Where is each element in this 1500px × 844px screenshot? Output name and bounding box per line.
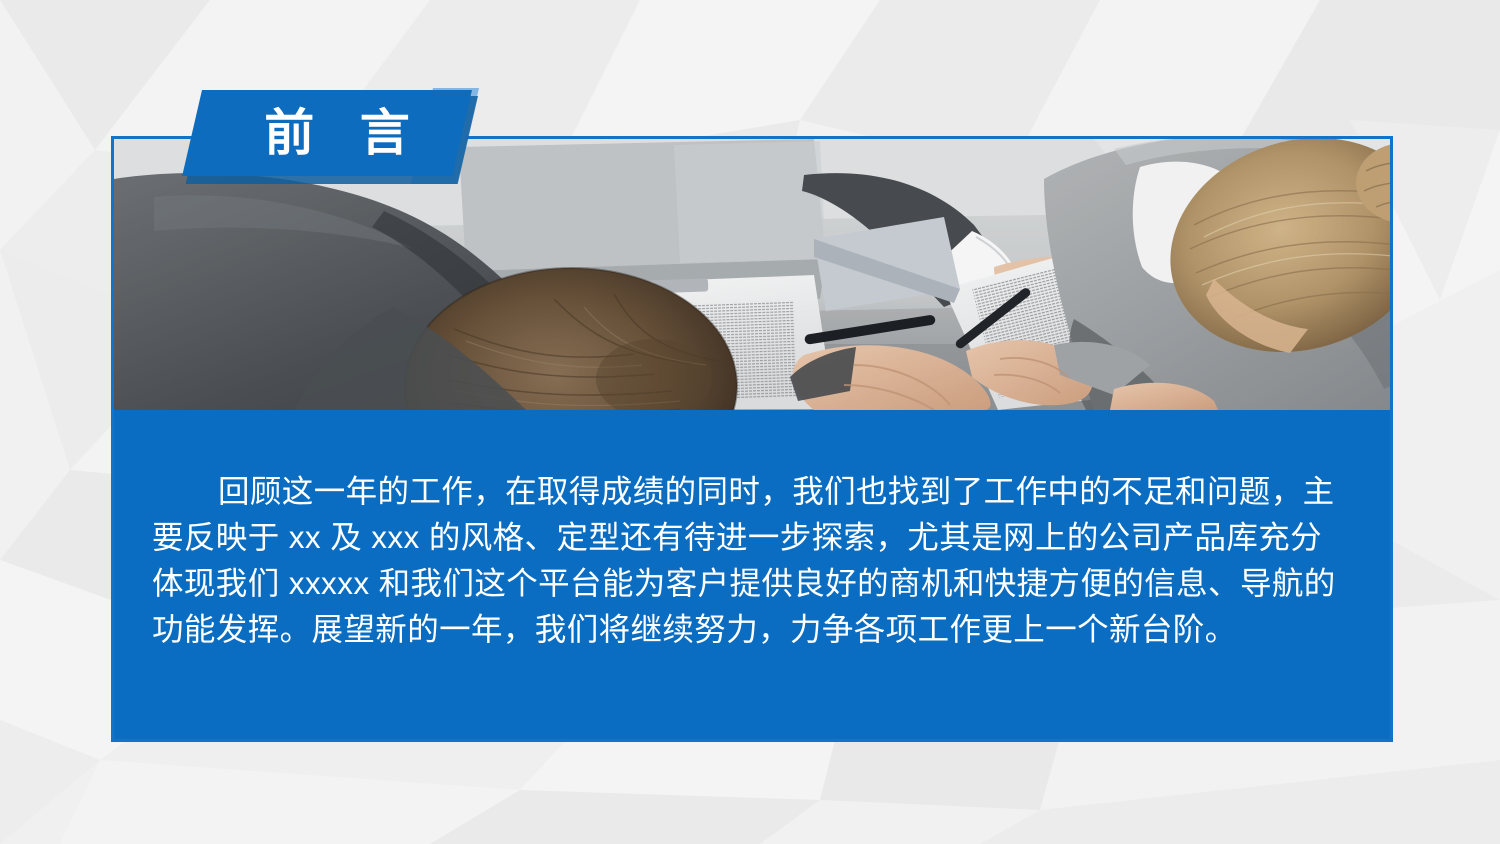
paragraph-panel: 回顾这一年的工作，在取得成绩的同时，我们也找到了工作中的不足和问题，主要反映于 … <box>114 410 1390 739</box>
presentation-slide: 回顾这一年的工作，在取得成绩的同时，我们也找到了工作中的不足和问题，主要反映于 … <box>0 0 1500 844</box>
body-paragraph: 回顾这一年的工作，在取得成绩的同时，我们也找到了工作中的不足和问题，主要反映于 … <box>152 468 1346 652</box>
content-frame: 回顾这一年的工作，在取得成绩的同时，我们也找到了工作中的不足和问题，主要反映于 … <box>111 136 1393 742</box>
page-title: 前 言 <box>202 90 472 176</box>
